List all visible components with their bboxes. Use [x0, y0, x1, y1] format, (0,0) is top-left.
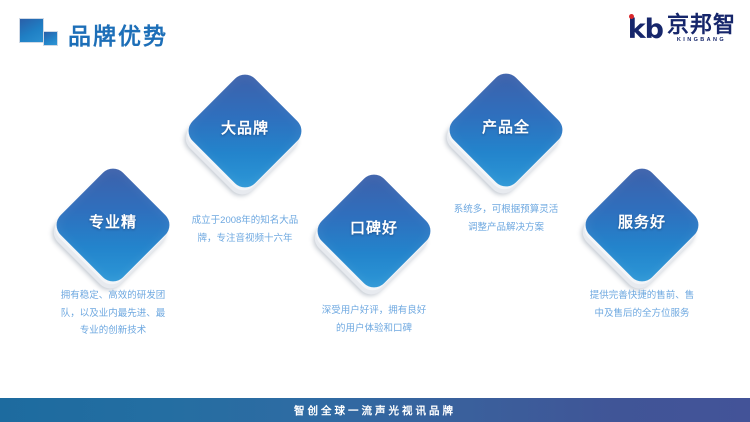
advantage-desc-3: 深受用户好评，拥有良好 的用户体验和口碑: [289, 302, 459, 337]
brand-logo: kb 京邦智 KINGBANG: [628, 12, 736, 46]
diamond-shape-3[interactable]: [312, 169, 436, 293]
slide-header: 品牌优势 kb 京邦智 KINGBANG: [0, 0, 750, 60]
advantage-desc-1: 拥有稳定、高效的研发团 队，以及业内最先进、最 专业的创新技术: [28, 287, 198, 340]
page-title: 品牌优势: [68, 17, 168, 51]
slide-root: 品牌优势 kb 京邦智 KINGBANG 专业精 拥有稳定、高效的研发团 队，以…: [0, 0, 750, 422]
diamond-shape-2[interactable]: [183, 69, 307, 193]
diamond-shape-1[interactable]: [51, 163, 175, 287]
logo-chinese-name: 京邦智: [667, 14, 736, 36]
diamond-shape-4[interactable]: [444, 68, 568, 192]
diamond-face-3: [312, 169, 436, 293]
advantage-desc-4: 系统多，可根据预算灵活 调整产品解决方案: [421, 201, 591, 236]
advantage-desc-2: 成立于2008年的知名大品 牌，专注音视频十六年: [160, 212, 330, 247]
logo-mark-text: kb: [628, 16, 663, 43]
square-large-icon: [19, 18, 44, 43]
footer-bar: 智创全球一流声光视讯品牌: [0, 396, 750, 422]
footer-slogan: 智创全球一流声光视讯品牌: [294, 403, 456, 418]
logo-chinese-block: 京邦智 KINGBANG: [667, 14, 736, 44]
decorative-squares-icon: [19, 18, 65, 50]
diamond-face-2: [183, 69, 307, 193]
diamond-face-1: [51, 163, 175, 287]
diamond-face-4: [444, 68, 568, 192]
diamond-shape-5[interactable]: [580, 163, 704, 287]
logo-pinyin: KINGBANG: [677, 38, 726, 44]
square-small-icon: [43, 31, 58, 46]
logo-dot-icon: [629, 14, 634, 19]
advantage-desc-5: 提供完善快捷的售前、售 中及售后的全方位服务: [557, 287, 727, 322]
diamond-face-5: [580, 163, 704, 287]
